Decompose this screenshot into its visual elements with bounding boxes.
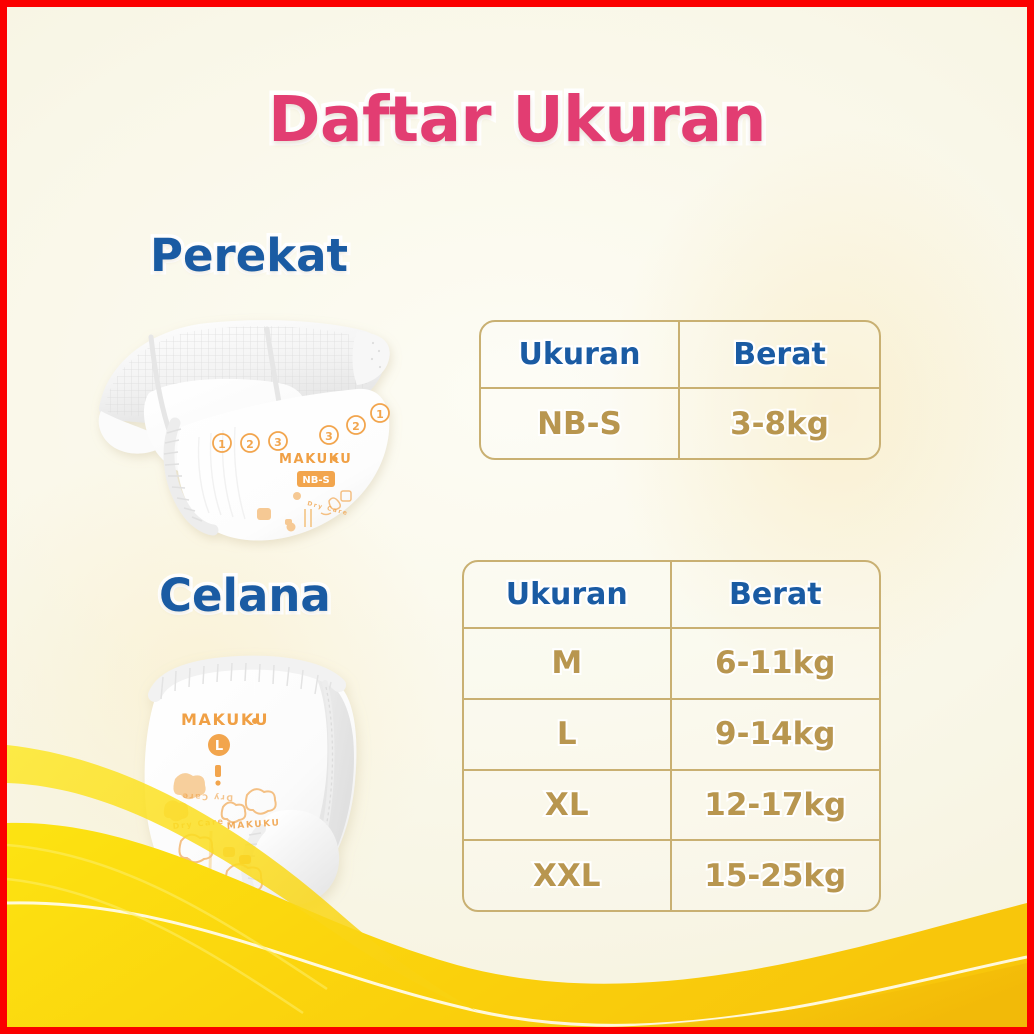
cell-ukuran: M [464,627,672,698]
column-header-ukuran: Ukuran [481,322,680,387]
column-header-berat: Berat [680,322,879,387]
table-row: NB-S 3-8kg [481,387,879,458]
table-row: L 9-14kg [464,698,879,769]
cell-ukuran: XL [464,769,672,840]
size-chart-poster: Daftar Ukuran Perekat [0,0,1034,1034]
cell-berat: 3-8kg [680,387,879,458]
column-header-berat: Berat [672,562,880,627]
table-header-row: Ukuran Berat [481,322,879,387]
cell-berat: 12-17kg [672,769,880,840]
size-table-perekat: Ukuran Berat NB-S 3-8kg [479,320,881,460]
section-heading-celana: Celana [159,569,331,622]
table-row: M 6-11kg [464,627,879,698]
page-title: Daftar Ukuran [7,83,1027,156]
cell-berat: 15-25kg [672,839,880,910]
cell-berat: 6-11kg [672,627,880,698]
section-heading-perekat: Perekat [150,229,348,282]
cell-ukuran: L [464,698,672,769]
cell-ukuran: XXL [464,839,672,910]
cell-ukuran: NB-S [481,387,680,458]
column-header-ukuran: Ukuran [464,562,672,627]
size-table-celana: Ukuran Berat M 6-11kg L 9-14kg XL 12-17k… [462,560,881,912]
table-row: XL 12-17kg [464,769,879,840]
table-row: XXL 15-25kg [464,839,879,910]
table-header-row: Ukuran Berat [464,562,879,627]
cell-berat: 9-14kg [672,698,880,769]
